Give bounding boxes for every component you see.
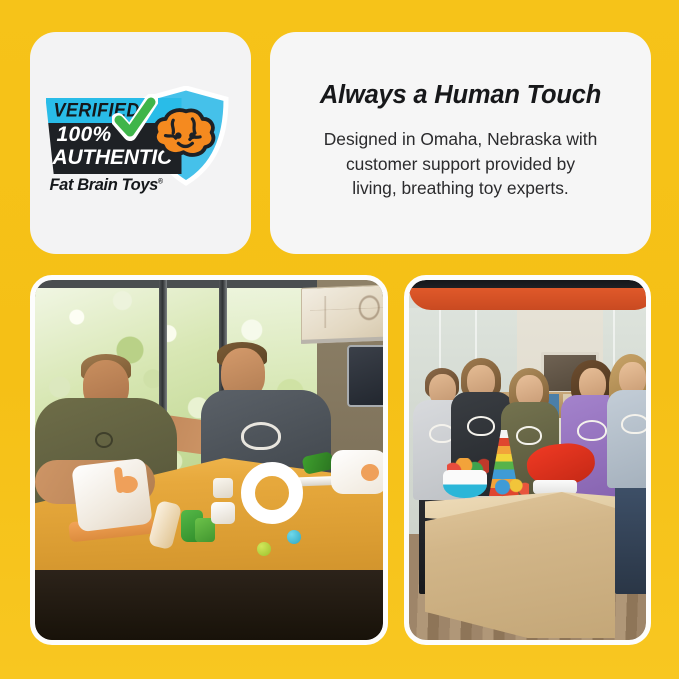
page-subtitle: Designed in Omaha, Nebraska with custome… — [324, 127, 598, 201]
photo-team-image — [409, 280, 646, 640]
top-row: VERIFIED 100% AUTHENTIC Fat Brain Toys® … — [30, 32, 651, 254]
badge-card: VERIFIED 100% AUTHENTIC Fat Brain Toys® — [30, 32, 251, 254]
office-chair — [347, 345, 383, 407]
whiteboard — [301, 284, 383, 344]
verified-authentic-badge: VERIFIED 100% AUTHENTIC Fat Brain Toys® — [46, 84, 236, 202]
photo-customer-support-team — [404, 275, 651, 645]
brain-logo-icon — [516, 426, 542, 445]
percent-label: 100% — [57, 123, 112, 147]
photo-row — [30, 275, 651, 645]
message-card: Always a Human Touch Designed in Omaha, … — [270, 32, 651, 254]
brain-logo-icon — [241, 422, 281, 450]
brain-logo-icon — [621, 414, 646, 434]
subtitle-line-1: Designed in Omaha, Nebraska with — [324, 129, 598, 149]
ceiling-band — [409, 288, 646, 310]
brain-logo-icon — [577, 420, 607, 441]
checkmark-icon — [112, 94, 158, 146]
photo-designers-image — [35, 280, 383, 640]
subtitle-line-3: living, breathing toy experts. — [352, 178, 569, 198]
ball-bowl-toy — [443, 470, 487, 498]
toy-ring-track — [241, 462, 303, 524]
poster-canvas: VERIFIED 100% AUTHENTIC Fat Brain Toys® … — [0, 0, 679, 679]
subtitle-line-2: customer support provided by — [346, 154, 575, 174]
brain-logo-icon — [467, 416, 495, 436]
toy-housing — [71, 458, 152, 533]
page-title: Always a Human Touch — [320, 81, 601, 110]
photo-designers-testing-toys — [30, 275, 388, 645]
